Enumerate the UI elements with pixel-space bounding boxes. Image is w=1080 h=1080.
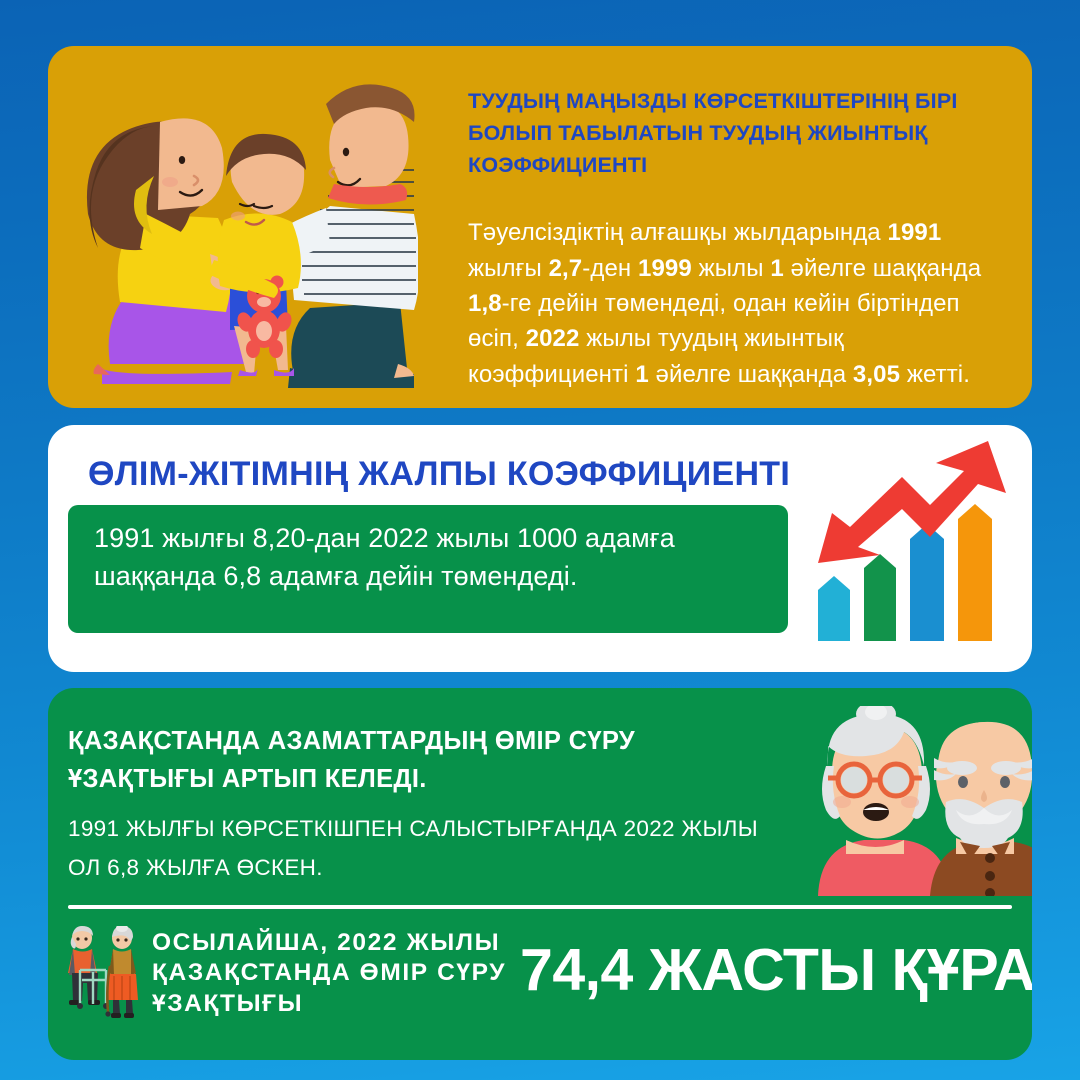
fertility-per-woman-1b: 1	[635, 361, 648, 388]
life-expectancy-footer: ОСЫЛАЙША, 2022 ЖЫЛЫ ҚАЗАҚСТАНДА ӨМІР СҮР…	[60, 926, 1020, 1046]
fertility-value-2-7: 2,7	[549, 255, 583, 282]
life-expectancy-footer-label: ОСЫЛАЙША, 2022 ЖЫЛЫ ҚАЗАҚСТАНДА ӨМІР СҮР…	[152, 928, 512, 1019]
life-expectancy-heading: ҚАЗАҚСТАНДА АЗАМАТТАРДЫҢ ӨМІР СҮРУ ҰЗАҚТ…	[68, 722, 768, 799]
fertility-body-p9: жетті.	[900, 361, 970, 388]
chart-bar-2	[864, 554, 896, 641]
fertility-body-p5: әйелге шаққанда	[784, 255, 981, 282]
mortality-stat-box: 1991 жылғы 8,20-дан 2022 жылы 1000 адамғ…	[68, 505, 788, 633]
chart-bar-3	[910, 524, 944, 641]
fertility-per-woman-1: 1	[770, 255, 783, 282]
fertility-body-p3: -ден	[582, 255, 638, 282]
fertility-value-3-05: 3,05	[853, 361, 900, 388]
fertility-body: Тәуелсіздіктің алғашқы жылдарында 1991 ж…	[468, 215, 1008, 391]
chart-bar-1	[818, 576, 850, 641]
chart-bar-4	[958, 504, 992, 641]
fertility-year-2022: 2022	[526, 325, 580, 352]
family-parents-hugging-child-illustration	[58, 64, 418, 394]
card-fertility-rate: ТУУДЫҢ МАҢЫЗДЫ КӨРСЕТКІШТЕРІНІҢ БІРІ БОЛ…	[48, 46, 1032, 408]
card-fertility-copy: ТУУДЫҢ МАҢЫЗДЫ КӨРСЕТКІШТЕРІНІҢ БІРІ БОЛ…	[468, 86, 1008, 392]
card-mortality-rate: ӨЛІМ-ЖІТІМНІҢ ЖАЛПЫ КОЭФФИЦИЕНТІ 1991 жы…	[48, 425, 1032, 672]
fertility-year-1999: 1999	[638, 255, 692, 282]
fertility-body-p4: жылы	[692, 255, 771, 282]
life-expectancy-value: 74,4 ЖАСТЫ ҚҰРАДЫ.	[520, 936, 1032, 1004]
section-divider	[68, 905, 1012, 909]
fertility-body-p1: Тәуелсіздіктің алғашқы жылдарында	[468, 219, 888, 246]
mortality-stat-text: 1991 жылғы 8,20-дан 2022 жылы 1000 адамғ…	[68, 505, 788, 596]
bar-chart-declining-arrow-icon	[810, 435, 1020, 650]
infographic-canvas: ТУУДЫҢ МАҢЫЗДЫ КӨРСЕТКІШТЕРІНІҢ БІРІ БОЛ…	[0, 0, 1080, 1080]
card-life-expectancy: ҚАЗАҚСТАНДА АЗАМАТТАРДЫҢ ӨМІР СҮРУ ҰЗАҚТ…	[48, 688, 1032, 1060]
elderly-couple-walker-cane-illustration	[60, 926, 144, 1022]
fertility-value-1-8: 1,8	[468, 290, 502, 317]
fertility-year-1991: 1991	[888, 219, 942, 246]
fertility-heading: ТУУДЫҢ МАҢЫЗДЫ КӨРСЕТКІШТЕРІНІҢ БІРІ БОЛ…	[468, 86, 1008, 181]
fertility-body-p8: әйелге шаққанда	[649, 361, 853, 388]
life-expectancy-subtext: 1991 ЖЫЛҒЫ КӨРСЕТКІШПЕН САЛЫСТЫРҒАНДА 20…	[68, 810, 788, 887]
mortality-heading: ӨЛІМ-ЖІТІМНІҢ ЖАЛПЫ КОЭФФИЦИЕНТІ	[88, 455, 790, 494]
elderly-couple-portrait-illustration	[806, 706, 1032, 896]
fertility-body-p2: жылғы	[468, 255, 549, 282]
